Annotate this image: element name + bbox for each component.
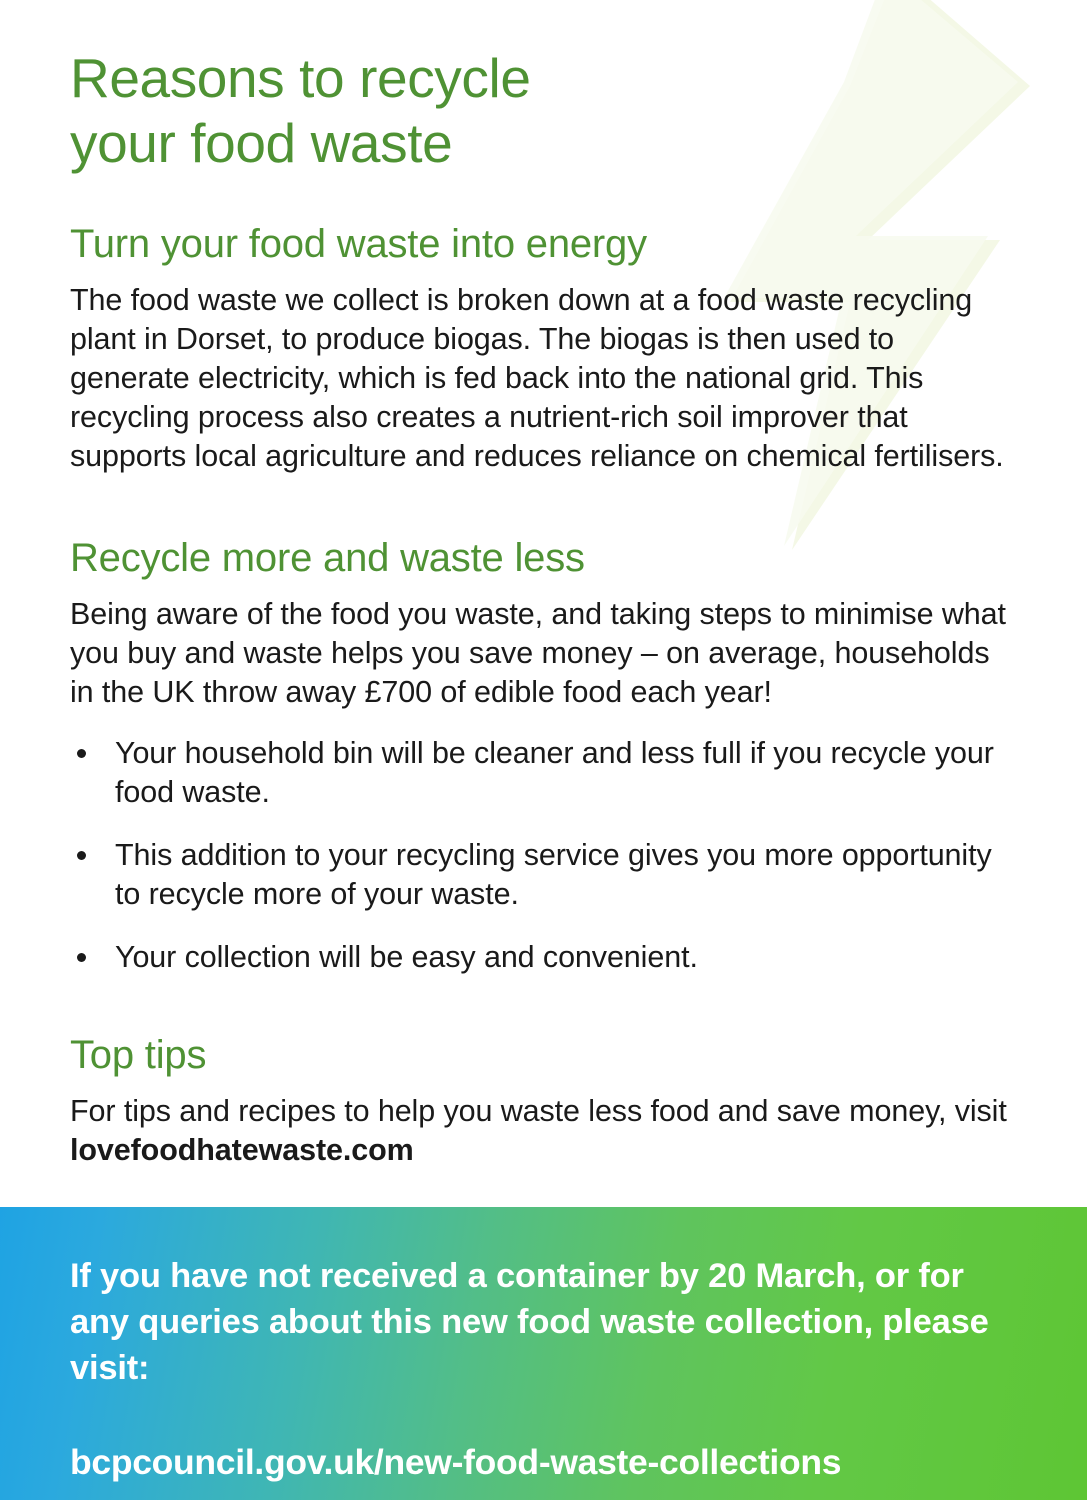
section-heading-recycle-more-and-waste-less: Recycle more and waste less	[70, 536, 1017, 581]
page-title: Reasons to recycle your food waste	[70, 0, 710, 176]
footer-message: If you have not received a container by …	[70, 1207, 1010, 1392]
section-body-recycle-more-and-waste-less: Being aware of the food you waste, and t…	[70, 581, 1017, 712]
section-body-turn-food-waste-into-energy: The food waste we collect is broken down…	[70, 267, 1017, 476]
page-title-line-1: Reasons to recycle	[70, 47, 531, 109]
content-area: Reasons to recycle your food waste Turn …	[0, 0, 1087, 1207]
leaflet-page: Reasons to recycle your food waste Turn …	[0, 0, 1087, 1500]
page-title-line-2: your food waste	[70, 112, 452, 174]
lovefoodhatewaste-link[interactable]: lovefoodhatewaste.com	[70, 1133, 414, 1167]
section-body-top-tips: For tips and recipes to help you waste l…	[70, 1078, 1017, 1170]
list-item: Your collection will be easy and conveni…	[70, 938, 1017, 977]
footer-banner: If you have not received a container by …	[0, 1207, 1087, 1500]
footer-council-url[interactable]: bcpcouncil.gov.uk/new-food-waste-collect…	[70, 1392, 1017, 1483]
benefits-bullet-list: Your household bin will be cleaner and l…	[70, 712, 1017, 977]
section-heading-top-tips: Top tips	[70, 1033, 1017, 1078]
list-item: Your household bin will be cleaner and l…	[70, 734, 1017, 812]
list-item: This addition to your recycling service …	[70, 836, 1017, 914]
top-tips-body-prefix: For tips and recipes to help you waste l…	[70, 1094, 1007, 1128]
section-heading-turn-food-waste-into-energy: Turn your food waste into energy	[70, 222, 1017, 267]
